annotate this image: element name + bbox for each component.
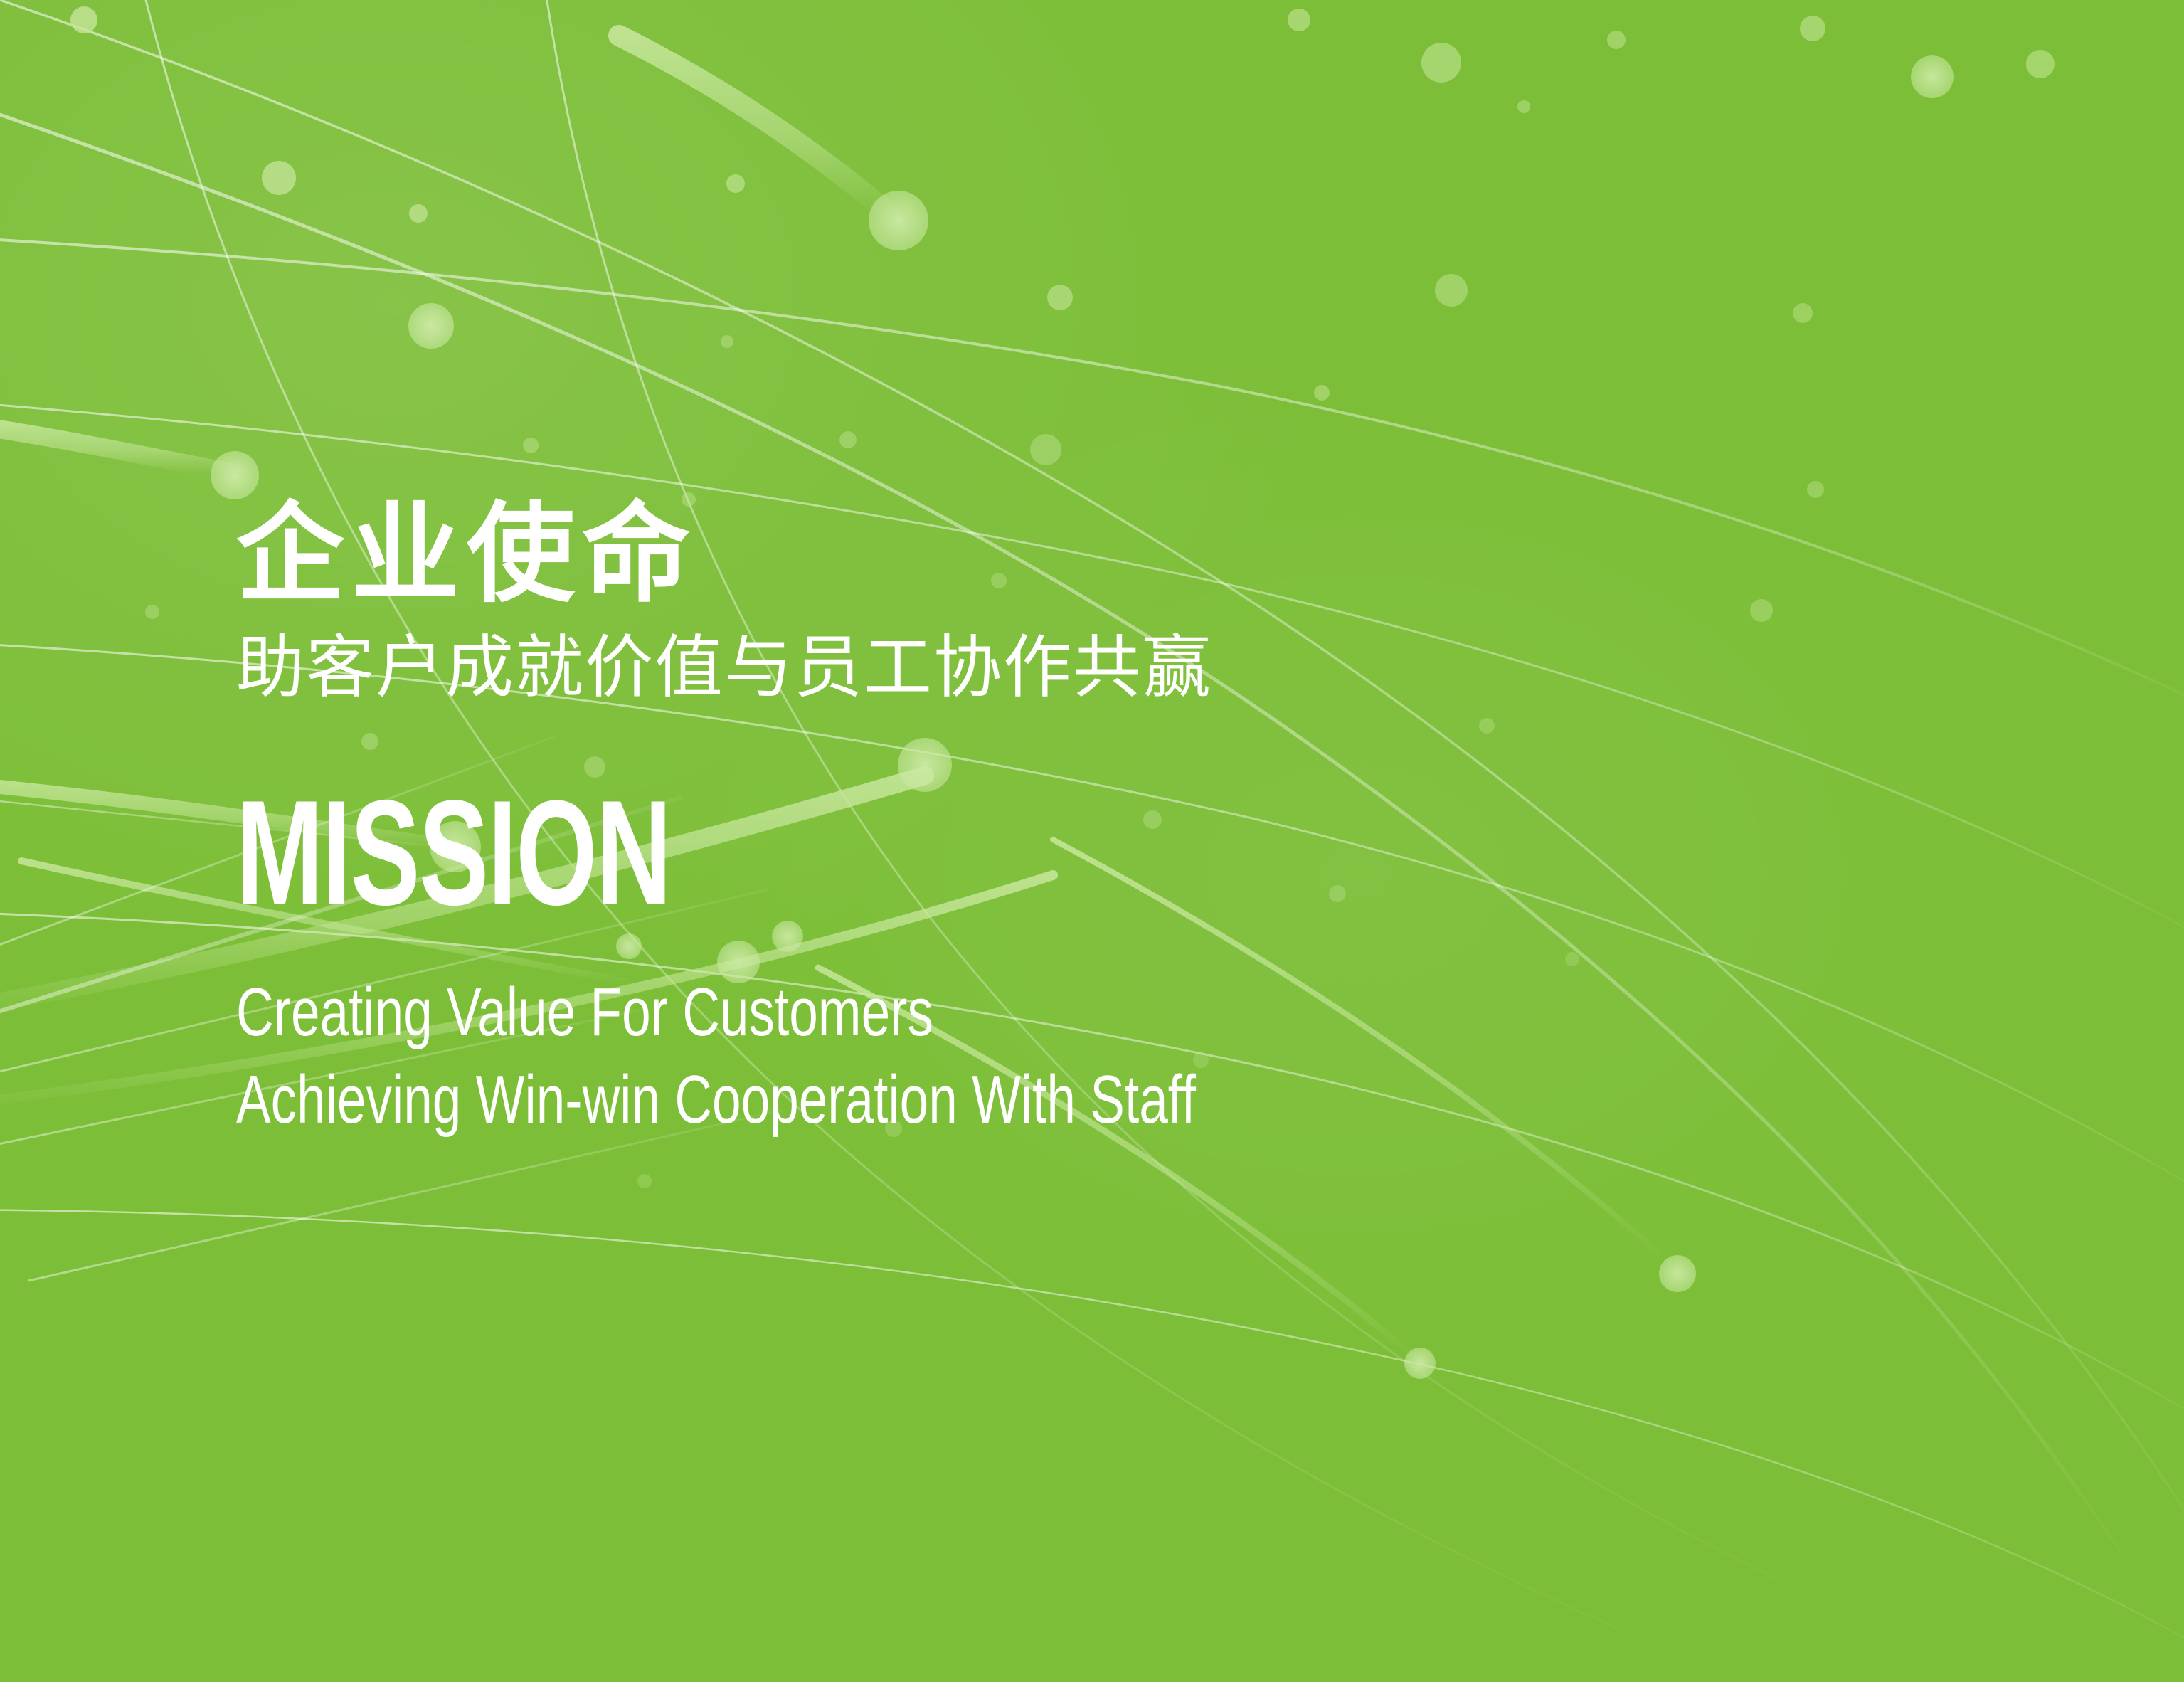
subtitle-cn: 助客户成就价值与员工协作共赢 bbox=[236, 628, 1944, 708]
mission-text-block: 企业使命 助客户成就价值与员工协作共赢 MISSION Creating Val… bbox=[236, 498, 1944, 1141]
mission-slide: 企业使命 助客户成就价值与员工协作共赢 MISSION Creating Val… bbox=[0, 0, 2184, 1682]
page-title-en: MISSION bbox=[236, 788, 1431, 919]
tagline-line-1: Creating Value For Customers bbox=[236, 972, 1534, 1052]
tagline-line-2: Achieving Win-win Cooperation With Staff bbox=[236, 1059, 1534, 1140]
page-title-cn: 企业使命 bbox=[236, 498, 1944, 610]
